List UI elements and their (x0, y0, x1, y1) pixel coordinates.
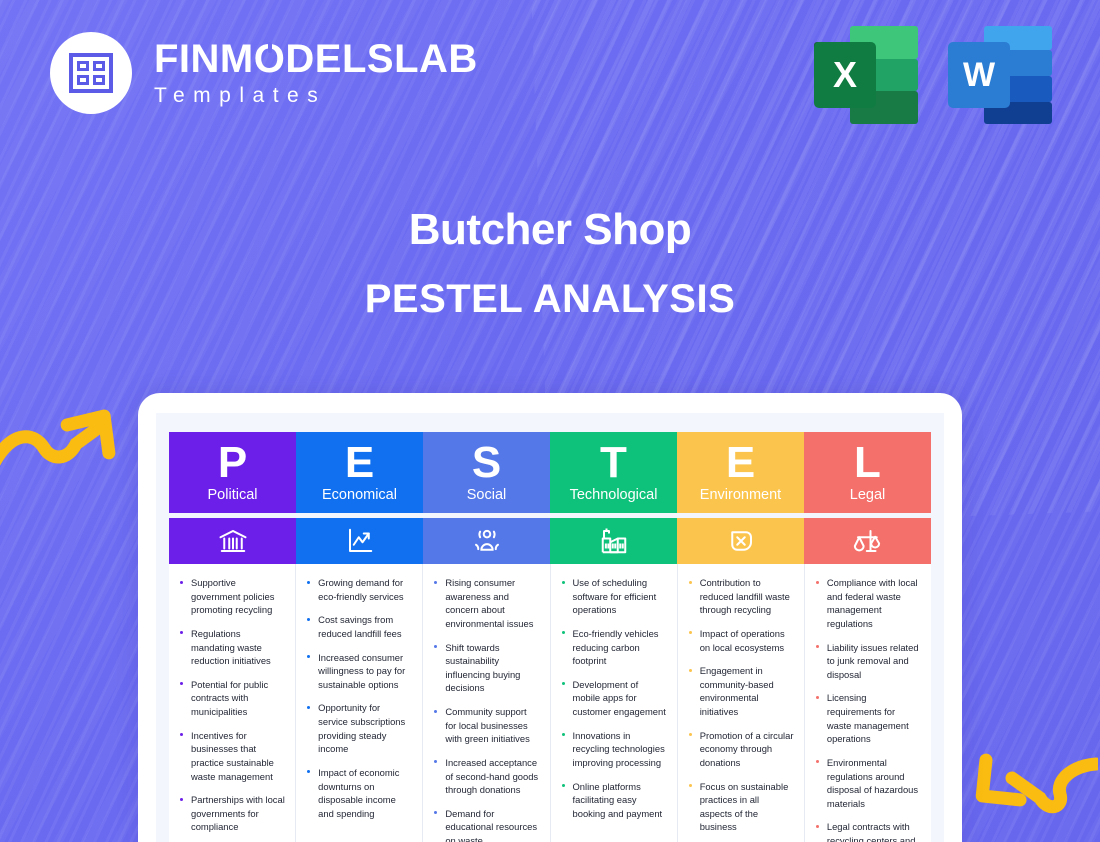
excel-letter: X (814, 42, 876, 108)
letter-e2: E (726, 442, 755, 484)
matrix-body-row: Supportive government policies promoting… (169, 564, 931, 842)
list-item: Eco-friendly vehicles reducing carbon fo… (560, 627, 667, 668)
social-list: Rising consumer awareness and concern ab… (432, 576, 539, 842)
list-item: Innovations in recycling technologies im… (560, 729, 667, 770)
environment-list: Contribution to reduced landfill waste t… (687, 576, 794, 834)
matrix-icon-row (169, 518, 931, 564)
list-item: Growing demand for eco-friendly services (305, 576, 412, 603)
list-item: Partnerships with local governments for … (178, 793, 285, 834)
column-header-technological[interactable]: T Technological (550, 432, 677, 513)
list-item: Focus on sustainable practices in all as… (687, 780, 794, 835)
squiggly-arrow-up-right-icon (0, 408, 127, 483)
list-item: Online platforms facilitating easy booki… (560, 780, 667, 821)
letter-e1: E (345, 442, 374, 484)
list-item: Potential for public contracts with muni… (178, 678, 285, 719)
brand-text: FINMODELSLAB Templates (154, 38, 478, 108)
word-file-icon[interactable]: W (948, 26, 1052, 124)
column-body-technological: Use of scheduling software for efficient… (551, 564, 678, 842)
grid-window-icon (69, 53, 113, 93)
list-item: Increased consumer willingness to pay fo… (305, 651, 412, 692)
brand-name-o: O (254, 38, 286, 80)
list-item: Cost savings from reduced landfill fees (305, 613, 412, 640)
leaf-icon (677, 518, 804, 564)
list-item: Compliance with local and federal waste … (814, 576, 921, 631)
list-item: Supportive government policies promoting… (178, 576, 285, 617)
list-item: Rising consumer awareness and concern ab… (432, 576, 539, 631)
list-item: Legal contracts with recycling centers a… (814, 820, 921, 842)
letter-l: L (854, 442, 881, 484)
column-header-economical[interactable]: E Economical (296, 432, 423, 513)
bank-institution-icon (169, 518, 296, 564)
column-body-environment: Contribution to reduced landfill waste t… (678, 564, 805, 842)
letter-t: T (600, 442, 627, 484)
matrix-header-row: P Political E Economical S Social T Tech… (169, 432, 931, 513)
column-body-political: Supportive government policies promoting… (169, 564, 296, 842)
list-item: Liability issues related to junk removal… (814, 641, 921, 682)
page-title-block: Butcher Shop PESTEL ANALYSIS (0, 205, 1100, 322)
letter-p: P (218, 442, 247, 484)
column-header-social[interactable]: S Social (423, 432, 550, 513)
label-political: Political (208, 487, 258, 503)
brand-name-part1: FINM (154, 37, 254, 81)
list-item: Regulations mandating waste reduction in… (178, 627, 285, 668)
logo-mark (50, 32, 132, 114)
line-chart-icon (296, 518, 423, 564)
legal-list: Compliance with local and federal waste … (814, 576, 921, 842)
scales-balance-icon (804, 518, 931, 564)
brand-name-part2: DELSLAB (285, 37, 477, 81)
pestel-matrix: P Political E Economical S Social T Tech… (169, 432, 931, 842)
list-item: Impact of operations on local ecosystems (687, 627, 794, 654)
brand-name: FINMODELSLAB (154, 38, 478, 80)
list-item: Incentives for businesses that practice … (178, 729, 285, 784)
column-body-legal: Compliance with local and federal waste … (805, 564, 931, 842)
economical-list: Growing demand for eco-friendly services… (305, 576, 412, 820)
device-screen: P Political E Economical S Social T Tech… (156, 413, 944, 842)
column-header-environment[interactable]: E Environment (677, 432, 804, 513)
label-economical: Economical (322, 487, 397, 503)
label-social: Social (467, 487, 507, 503)
excel-file-icon[interactable]: X (814, 26, 918, 124)
list-item: Community support for local businesses w… (432, 705, 539, 746)
squiggly-arrow-down-left-icon (960, 752, 1098, 829)
label-technological: Technological (570, 487, 658, 503)
list-item: Demand for educational resources on wast… (432, 807, 539, 842)
page-title: Butcher Shop (0, 205, 1100, 255)
list-item: Licensing requirements for waste managem… (814, 691, 921, 746)
political-list: Supportive government policies promoting… (178, 576, 285, 834)
list-item: Use of scheduling software for efficient… (560, 576, 667, 617)
column-header-legal[interactable]: L Legal (804, 432, 931, 513)
column-header-political[interactable]: P Political (169, 432, 296, 513)
factory-icon (550, 518, 677, 564)
column-body-social: Rising consumer awareness and concern ab… (423, 564, 550, 842)
label-environment: Environment (700, 487, 781, 503)
list-item: Engagement in community-based environmen… (687, 664, 794, 719)
device-card: P Political E Economical S Social T Tech… (138, 393, 962, 842)
letter-s: S (472, 442, 501, 484)
list-item: Shift towards sustainability influencing… (432, 641, 539, 696)
list-item: Contribution to reduced landfill waste t… (687, 576, 794, 617)
label-legal: Legal (850, 487, 885, 503)
brand-tagline: Templates (154, 84, 478, 108)
people-group-icon (423, 518, 550, 564)
list-item: Impact of economic downturns on disposab… (305, 766, 412, 821)
list-item: Increased acceptance of second-hand good… (432, 756, 539, 797)
list-item: Promotion of a circular economy through … (687, 729, 794, 770)
word-letter: W (948, 42, 1010, 108)
column-body-economical: Growing demand for eco-friendly services… (296, 564, 423, 842)
page-subtitle: PESTEL ANALYSIS (0, 277, 1100, 322)
technological-list: Use of scheduling software for efficient… (560, 576, 667, 820)
list-item: Development of mobile apps for customer … (560, 678, 667, 719)
file-format-icons: X W (814, 26, 1052, 124)
brand-logo: FINMODELSLAB Templates (50, 32, 478, 114)
list-item: Opportunity for service subscriptions pr… (305, 701, 412, 756)
list-item: Environmental regulations around disposa… (814, 756, 921, 811)
